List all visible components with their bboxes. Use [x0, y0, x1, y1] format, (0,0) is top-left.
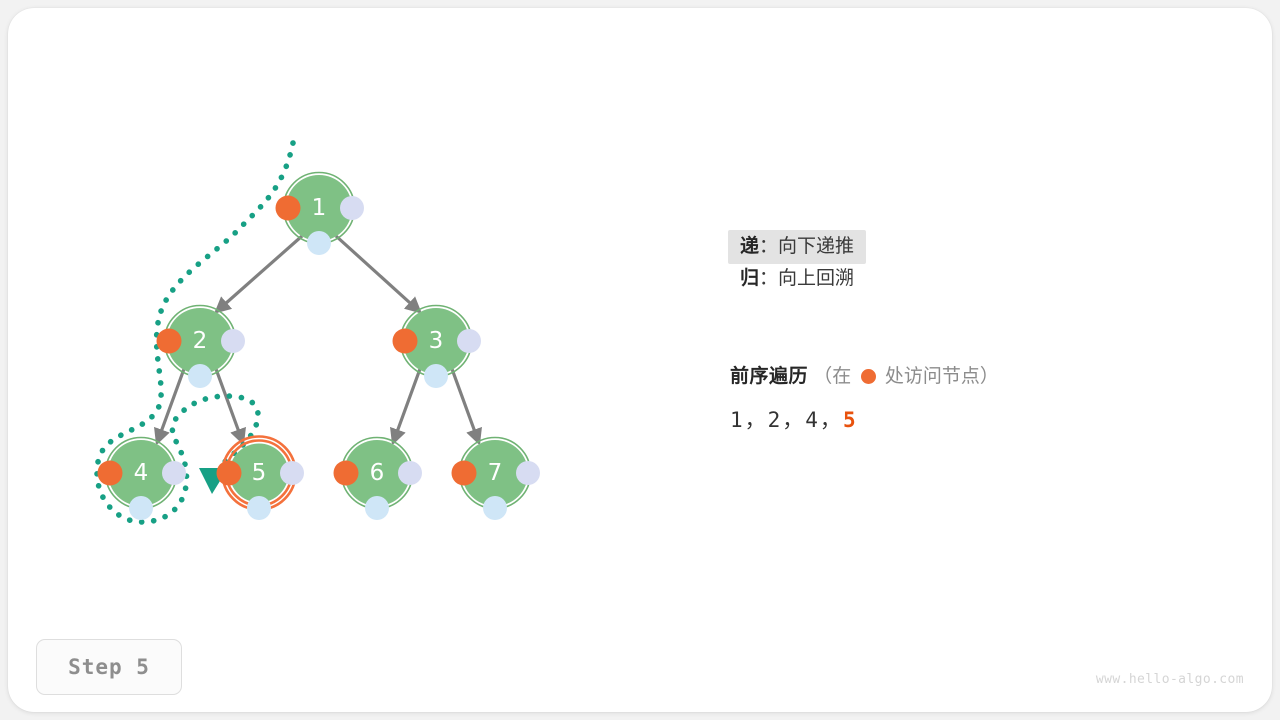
- node-2-bottom-dot: [188, 364, 212, 388]
- step-badge: Step 5: [36, 639, 182, 695]
- traversal-sequence-done: 1，2，4，: [730, 408, 843, 432]
- binary-tree-diagram: 1 2 3: [0, 0, 1280, 720]
- node-4-label: 4: [134, 460, 149, 486]
- legend-sep-recurse: ：: [759, 236, 778, 257]
- node-3-bottom-dot: [424, 364, 448, 388]
- tree-node-3[interactable]: 3: [393, 306, 482, 389]
- tree-node-7[interactable]: 7: [452, 438, 541, 521]
- traversal-title-prefix: （在: [813, 366, 851, 387]
- node-7-right-dot: [516, 461, 540, 485]
- tree-node-2[interactable]: 2: [157, 306, 246, 389]
- traversal-title: 前序遍历 （在 处访问节点）: [730, 362, 1210, 392]
- node-5-bottom-dot: [247, 496, 271, 520]
- page-root: 1 2 3: [0, 0, 1280, 720]
- node-7-visit-dot: [452, 461, 477, 486]
- traversal-sequence: 1，2，4，5: [730, 404, 1210, 434]
- node-5-visit-dot: [217, 461, 242, 486]
- node-6-right-dot: [398, 461, 422, 485]
- legend-text-recurse: 向下递推: [778, 236, 854, 257]
- traversal-title-bold: 前序遍历: [730, 366, 808, 387]
- node-3-right-dot: [457, 329, 481, 353]
- node-5-label: 5: [252, 460, 267, 486]
- node-3-visit-dot: [393, 329, 418, 354]
- node-2-right-dot: [221, 329, 245, 353]
- legend-text-return: 向上回溯: [778, 268, 854, 289]
- tree-node-1[interactable]: 1: [276, 173, 365, 256]
- edge-3-6: [393, 369, 420, 443]
- node-1-visit-dot: [276, 196, 301, 221]
- step-badge-label: Step 5: [68, 655, 150, 679]
- tree-node-6[interactable]: 6: [334, 438, 423, 521]
- node-5-right-dot: [280, 461, 304, 485]
- edge-1-3: [336, 236, 420, 312]
- node-7-bottom-dot: [483, 496, 507, 520]
- node-3-label: 3: [429, 328, 444, 354]
- legend-key-recurse: 递: [740, 236, 759, 257]
- visit-dot-icon: [861, 369, 876, 384]
- edge-1-2: [216, 236, 302, 312]
- node-1-label: 1: [312, 195, 327, 221]
- tree-node-5[interactable]: 5: [217, 437, 305, 521]
- watermark: www.hello-algo.com: [1096, 672, 1244, 687]
- legend-row-return: 归：向上回溯: [728, 266, 1198, 292]
- node-1-bottom-dot: [307, 231, 331, 255]
- node-6-label: 6: [370, 460, 385, 486]
- legend-sep-return: ：: [759, 268, 778, 289]
- legend-key-return: 归: [740, 268, 759, 289]
- node-2-visit-dot: [157, 329, 182, 354]
- edge-3-7: [452, 369, 479, 443]
- node-4-visit-dot: [98, 461, 123, 486]
- node-6-visit-dot: [334, 461, 359, 486]
- legend-panel: 递：向下递推 归：向上回溯: [728, 234, 1198, 298]
- node-4-right-dot: [162, 461, 186, 485]
- traversal-panel: 前序遍历 （在 处访问节点） 1，2，4，5: [730, 362, 1210, 434]
- edge-2-5: [216, 369, 243, 443]
- traversal-title-suffix: 处访问节点）: [885, 366, 999, 387]
- legend-row-recurse: 递：向下递推: [728, 234, 1198, 260]
- tree-nodes: 1 2 3: [98, 173, 541, 521]
- node-6-bottom-dot: [365, 496, 389, 520]
- node-4-bottom-dot: [129, 496, 153, 520]
- node-7-label: 7: [488, 460, 503, 486]
- node-2-label: 2: [193, 328, 208, 354]
- traversal-sequence-current: 5: [843, 408, 858, 432]
- node-1-right-dot: [340, 196, 364, 220]
